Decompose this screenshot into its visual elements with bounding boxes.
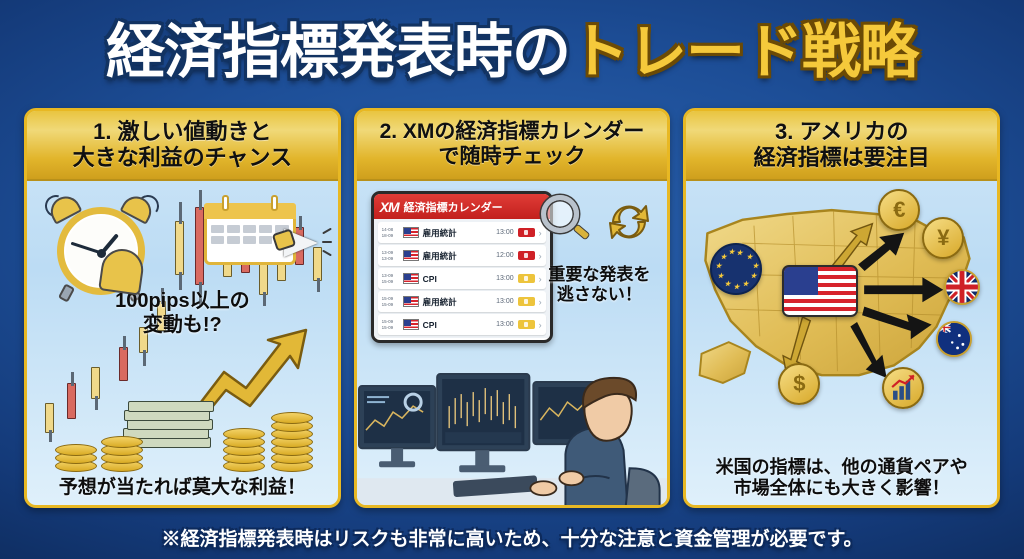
panel-1-heading-line1: 1. 激しい値動きと <box>93 119 271 144</box>
row-date-line2: 15-09 <box>382 325 394 330</box>
page-title-yellow: トレード戦略 <box>570 19 918 85</box>
panel-1-caption-bottom: 予想が当たれば莫大な利益！ <box>27 477 338 500</box>
megaphone-icon <box>274 223 330 261</box>
panel-1-heading: 1. 激しい値動きと 大きな利益のチャンス <box>27 111 338 181</box>
table-row[interactable]: 15-09 15-09 CPI 13:00 › <box>378 314 546 335</box>
row-time: 13:00 <box>496 275 514 282</box>
impact-badge-high <box>518 228 535 237</box>
panel-1-heading-line2: 大きな利益のチャンス <box>73 145 292 170</box>
row-time: 13:00 <box>496 321 514 328</box>
row-date-line2: 15-09 <box>382 279 394 284</box>
panel-3: 3. アメリカの 経済指標は要注目 <box>683 108 1000 508</box>
coin-stack-icon <box>55 432 101 472</box>
row-event-name: CPI <box>423 274 492 284</box>
panel-2: 2. XMの経済指標カレンダー で随時チェック XM 経済指標カレンダー 14-… <box>354 108 671 508</box>
alarm-clock-icon <box>49 193 153 297</box>
row-time: 13:00 <box>496 298 514 305</box>
row-date: 13-09 15-09 <box>382 273 399 284</box>
xm-widget-header: XM 経済指標カレンダー <box>374 194 550 219</box>
panel-2-heading-text: 2. XMの経済指標カレンダー で随時チェック <box>380 120 645 170</box>
us-flag-badge <box>782 265 858 317</box>
panel-3-caption-line2: 市場全体にも大きく影響！ <box>734 478 950 498</box>
panel-1-heading-text: 1. 激しい値動きと 大きな利益のチャンス <box>73 119 292 171</box>
table-row[interactable]: 13-09 15-09 CPI 13:00 › <box>378 268 546 289</box>
row-date-line2: 13-09 <box>382 256 394 261</box>
xm-logo: XM <box>380 199 399 215</box>
calendar-top-bar <box>204 203 296 219</box>
row-date-line2: 15-09 <box>382 302 394 307</box>
xm-economic-calendar-widget[interactable]: XM 経済指標カレンダー 14-08 18-09 雇用統計 13:00 › <box>371 191 553 343</box>
row-date-line2: 18-09 <box>382 233 394 238</box>
row-event-name: 雇用統計 <box>423 250 492 262</box>
chevron-right-icon[interactable]: › <box>539 320 542 330</box>
panel-2-caption: 重要な発表を 逃さない！ <box>537 265 661 306</box>
panel-2-caption-line1: 重要な発表を <box>548 265 650 284</box>
row-event-name: 雇用統計 <box>423 296 492 308</box>
eu-flag-icon: ★★★ ★★★ ★★★ ★★ <box>710 243 762 295</box>
table-row[interactable]: 13-09 13-09 雇用統計 12:00 › <box>378 245 546 266</box>
refresh-icon <box>603 197 655 247</box>
impact-badge-medium <box>518 274 535 283</box>
search-icon <box>541 195 593 247</box>
page-title-white: 経済指標発表時の <box>106 19 570 85</box>
panel-3-body: ★★★ ★★★ ★★★ ★★ € ¥ <box>686 181 997 508</box>
table-row[interactable]: 14-08 18-09 雇用統計 13:00 › <box>378 222 546 243</box>
row-date-line1: 15-09 <box>382 319 394 324</box>
panel-3-caption-line1: 米国の指標は、他の通貨ペアや <box>716 457 968 477</box>
panel-3-heading: 3. アメリカの 経済指標は要注目 <box>686 111 997 181</box>
panel-3-caption: 米国の指標は、他の通貨ペアや 市場全体にも大きく影響！ <box>686 457 997 500</box>
chevron-right-icon[interactable]: › <box>539 251 542 261</box>
panel-3-heading-line1: 3. アメリカの <box>775 119 908 144</box>
us-flag-icon <box>403 227 419 238</box>
panel-1-body: 100pips以上の 変動も!? <box>27 181 338 508</box>
row-event-name: CPI <box>423 320 492 330</box>
row-date-line1: 13-09 <box>382 250 394 255</box>
eu-stars: ★★★ ★★★ ★★★ ★★ <box>712 245 760 293</box>
trader-at-monitors <box>357 358 668 508</box>
row-time: 12:00 <box>496 252 514 259</box>
row-date-line1: 13-09 <box>382 273 394 278</box>
calendar-ring-right <box>271 195 278 211</box>
panel-3-heading-line2: 経済指標は要注目 <box>754 145 930 170</box>
footer-disclaimer: ※経済指標発表時はリスクも非常に高いため、十分な注意と資金管理が必要です。 <box>0 524 1024 551</box>
impact-badge-high <box>518 251 535 260</box>
header: 経済指標発表時のトレード戦略 <box>0 6 1024 98</box>
coin-stack-icon <box>223 412 269 472</box>
row-date-line1: 15-09 <box>382 296 394 301</box>
panel-2-heading-line1: 2. XMの経済指標カレンダー <box>380 120 645 143</box>
row-event-name: 雇用統計 <box>423 227 492 239</box>
megaphone-ray <box>322 241 332 243</box>
row-date: 15-09 15-09 <box>382 296 399 307</box>
us-flag-icon <box>403 273 419 284</box>
us-flag-icon <box>403 250 419 261</box>
row-date: 13-09 13-09 <box>382 250 399 261</box>
impact-badge-medium <box>518 320 535 329</box>
panel-3-heading-text: 3. アメリカの 経済指標は要注目 <box>754 119 930 171</box>
row-date: 15-09 15-09 <box>382 319 399 330</box>
row-time: 13:00 <box>496 229 514 236</box>
us-flag-icon <box>403 296 419 307</box>
coin-stack-icon <box>271 386 317 472</box>
impact-badge-medium <box>518 297 535 306</box>
panel-row: 1. 激しい値動きと 大きな利益のチャンス <box>24 108 1000 508</box>
panel-2-heading-line2: で随時チェック <box>439 145 586 168</box>
page-title: 経済指標発表時のトレード戦略 <box>106 23 918 82</box>
panel-2-caption-line2: 逃さない！ <box>557 285 642 304</box>
magnifier-handle <box>573 223 591 240</box>
row-date: 14-08 18-09 <box>382 227 399 238</box>
row-date-line1: 14-08 <box>382 227 394 232</box>
panel-2-body: XM 経済指標カレンダー 14-08 18-09 雇用統計 13:00 › <box>357 181 668 508</box>
chart-coin-icon <box>882 367 924 409</box>
panel-1: 1. 激しい値動きと 大きな利益のチャンス <box>24 108 341 508</box>
table-row[interactable]: 15-09 15-09 雇用統計 13:00 › <box>378 291 546 312</box>
xm-calendar-rows: 14-08 18-09 雇用統計 13:00 › 13-09 13-09 <box>374 219 550 338</box>
xm-widget-title: 経済指標カレンダー <box>404 199 503 215</box>
panel-2-heading: 2. XMの経済指標カレンダー で随時チェック <box>357 111 668 181</box>
calendar-ring-left <box>222 195 229 211</box>
coin-stack-icon <box>101 416 147 472</box>
us-flag-icon <box>403 319 419 330</box>
